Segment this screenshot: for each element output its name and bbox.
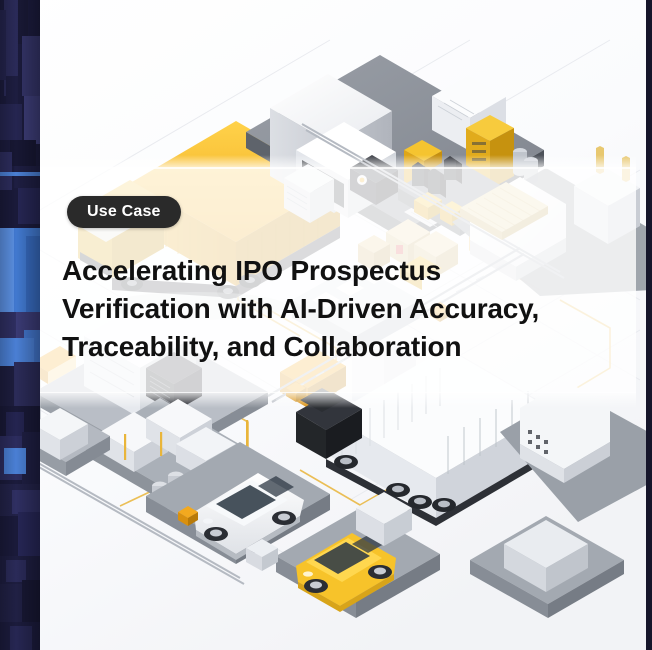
page-title: Accelerating IPO Prospectus Verification…	[62, 252, 562, 366]
use-case-badge[interactable]: Use Case	[67, 196, 181, 228]
decorative-mosaic-band	[0, 0, 40, 650]
right-edge-strip	[646, 0, 652, 650]
page-title-line-2: Verification with AI-Driven Accuracy,	[62, 290, 562, 328]
page-title-line-1: Accelerating IPO Prospectus	[62, 252, 562, 290]
page-title-line-3: Traceability, and Collaboration	[62, 328, 562, 366]
card-content: Use Case Accelerating IPO Prospectus Ver…	[0, 0, 652, 650]
use-case-hero-card: Use Case Accelerating IPO Prospectus Ver…	[0, 0, 652, 650]
